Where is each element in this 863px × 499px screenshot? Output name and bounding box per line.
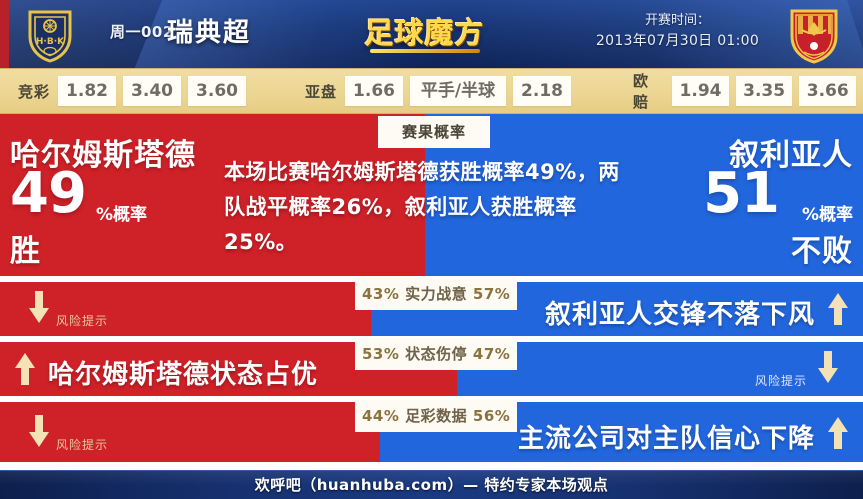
arrow-up-icon xyxy=(827,292,849,326)
comparison-row-form: 哈尔姆斯塔德状态占优 风险提示 53% 状态伤停 47% xyxy=(0,342,863,396)
odds-cell[interactable]: 1.66 xyxy=(345,76,403,106)
arrow-down-icon xyxy=(28,290,50,324)
metric-name: 状态伤停 xyxy=(405,345,467,363)
odds-group-label: 竞彩 xyxy=(18,81,50,102)
home-probability-value: 49 xyxy=(10,166,86,222)
arrow-down-icon xyxy=(817,350,839,384)
away-probability-value: 51 xyxy=(703,166,779,222)
home-risk-note: 风险提示 xyxy=(56,436,108,453)
metric-badge-form: 53% 状态伤停 47% xyxy=(355,338,517,370)
match-preview-infographic: H·B·K 周一002 瑞典超 足球魔方 开赛时间： 2013年07月30日 0… xyxy=(0,0,863,499)
odds-group-oupei: 欧赔 1.94 3.35 3.66 xyxy=(633,69,863,113)
odds-group-label: 欧赔 xyxy=(633,70,664,112)
away-claim: 主流公司对主队信心下降 xyxy=(518,418,815,455)
svg-text:H·B·K: H·B·K xyxy=(36,37,65,47)
odds-group-jingcai: 竞彩 1.82 3.40 3.60 xyxy=(18,69,253,113)
halmstad-crest-icon: H·B·K xyxy=(22,6,78,64)
syrianska-crest-icon xyxy=(786,6,842,64)
metric-away-percent: 47% xyxy=(473,345,510,363)
kickoff-value: 2013年07月30日 01:00 xyxy=(590,31,765,52)
away-probability-suffix: %概率 xyxy=(802,200,853,225)
odds-bar: 竞彩 1.82 3.40 3.60 亚盘 1.66 平手/半球 2.18 欧赔 … xyxy=(0,68,863,114)
metric-away-percent: 56% xyxy=(473,407,510,425)
metric-home-percent: 53% xyxy=(362,345,399,363)
comparison-row-strength: 风险提示 叙利亚人交锋不落下风 43% 实力战意 57% xyxy=(0,282,863,336)
odds-group-label: 亚盘 xyxy=(305,81,337,102)
header-accent-stripe xyxy=(0,0,9,68)
home-bar xyxy=(0,402,380,462)
match-summary-text: 本场比赛哈尔姆斯塔德获胜概率49%，两队战平概率26%，叙利亚人获胜概率25%。 xyxy=(224,155,620,260)
brand-logo[interactable]: 足球魔方 xyxy=(352,4,497,60)
odds-cell[interactable]: 1.94 xyxy=(672,76,729,106)
league-name: 瑞典超 xyxy=(167,12,251,49)
header-bar: H·B·K 周一002 瑞典超 足球魔方 开赛时间： 2013年07月30日 0… xyxy=(0,0,863,68)
section-tab-result-probability[interactable]: 赛果概率 xyxy=(378,116,490,148)
home-risk-note: 风险提示 xyxy=(56,312,108,329)
away-risk-note: 风险提示 xyxy=(755,372,807,389)
metric-home-percent: 43% xyxy=(362,285,399,303)
arrow-down-icon xyxy=(28,414,50,448)
odds-cell[interactable]: 1.82 xyxy=(58,76,116,106)
kickoff-time: 开赛时间： 2013年07月30日 01:00 xyxy=(590,10,765,52)
odds-cell[interactable]: 2.18 xyxy=(513,76,571,106)
metric-home-percent: 44% xyxy=(362,407,399,425)
brand-logo-underline xyxy=(370,49,480,53)
kickoff-label: 开赛时间： xyxy=(590,10,765,31)
odds-cell[interactable]: 3.60 xyxy=(188,76,246,106)
away-claim: 叙利亚人交锋不落下风 xyxy=(545,294,815,331)
odds-group-yapan: 亚盘 1.66 平手/半球 2.18 xyxy=(305,69,578,113)
metric-badge-strength: 43% 实力战意 57% xyxy=(355,278,517,310)
odds-cell-handicap[interactable]: 平手/半球 xyxy=(410,76,506,106)
metric-badge-market: 44% 足彩数据 56% xyxy=(355,400,517,432)
home-claim: 哈尔姆斯塔德状态占优 xyxy=(48,354,318,391)
match-number: 周一002 xyxy=(110,21,174,42)
comparison-row-market: 风险提示 主流公司对主队信心下降 44% 足彩数据 56% xyxy=(0,402,863,462)
metric-name: 实力战意 xyxy=(405,285,467,303)
metric-away-percent: 57% xyxy=(473,285,510,303)
odds-cell[interactable]: 3.40 xyxy=(123,76,181,106)
metric-name: 足彩数据 xyxy=(405,407,467,425)
arrow-up-icon xyxy=(827,416,849,450)
odds-cell[interactable]: 3.35 xyxy=(736,76,793,106)
footer-text: 欢呼吧（huanhuba.com）— 特约专家本场观点 xyxy=(0,471,863,499)
home-outcome-label: 胜 xyxy=(10,226,41,270)
brand-logo-text: 足球魔方 xyxy=(352,10,497,52)
home-probability-suffix: %概率 xyxy=(96,200,147,225)
odds-cell[interactable]: 3.66 xyxy=(799,76,856,106)
footer-bar: 欢呼吧（huanhuba.com）— 特约专家本场观点 xyxy=(0,470,863,499)
arrow-up-icon xyxy=(14,352,36,386)
away-outcome-label: 不败 xyxy=(791,226,853,270)
